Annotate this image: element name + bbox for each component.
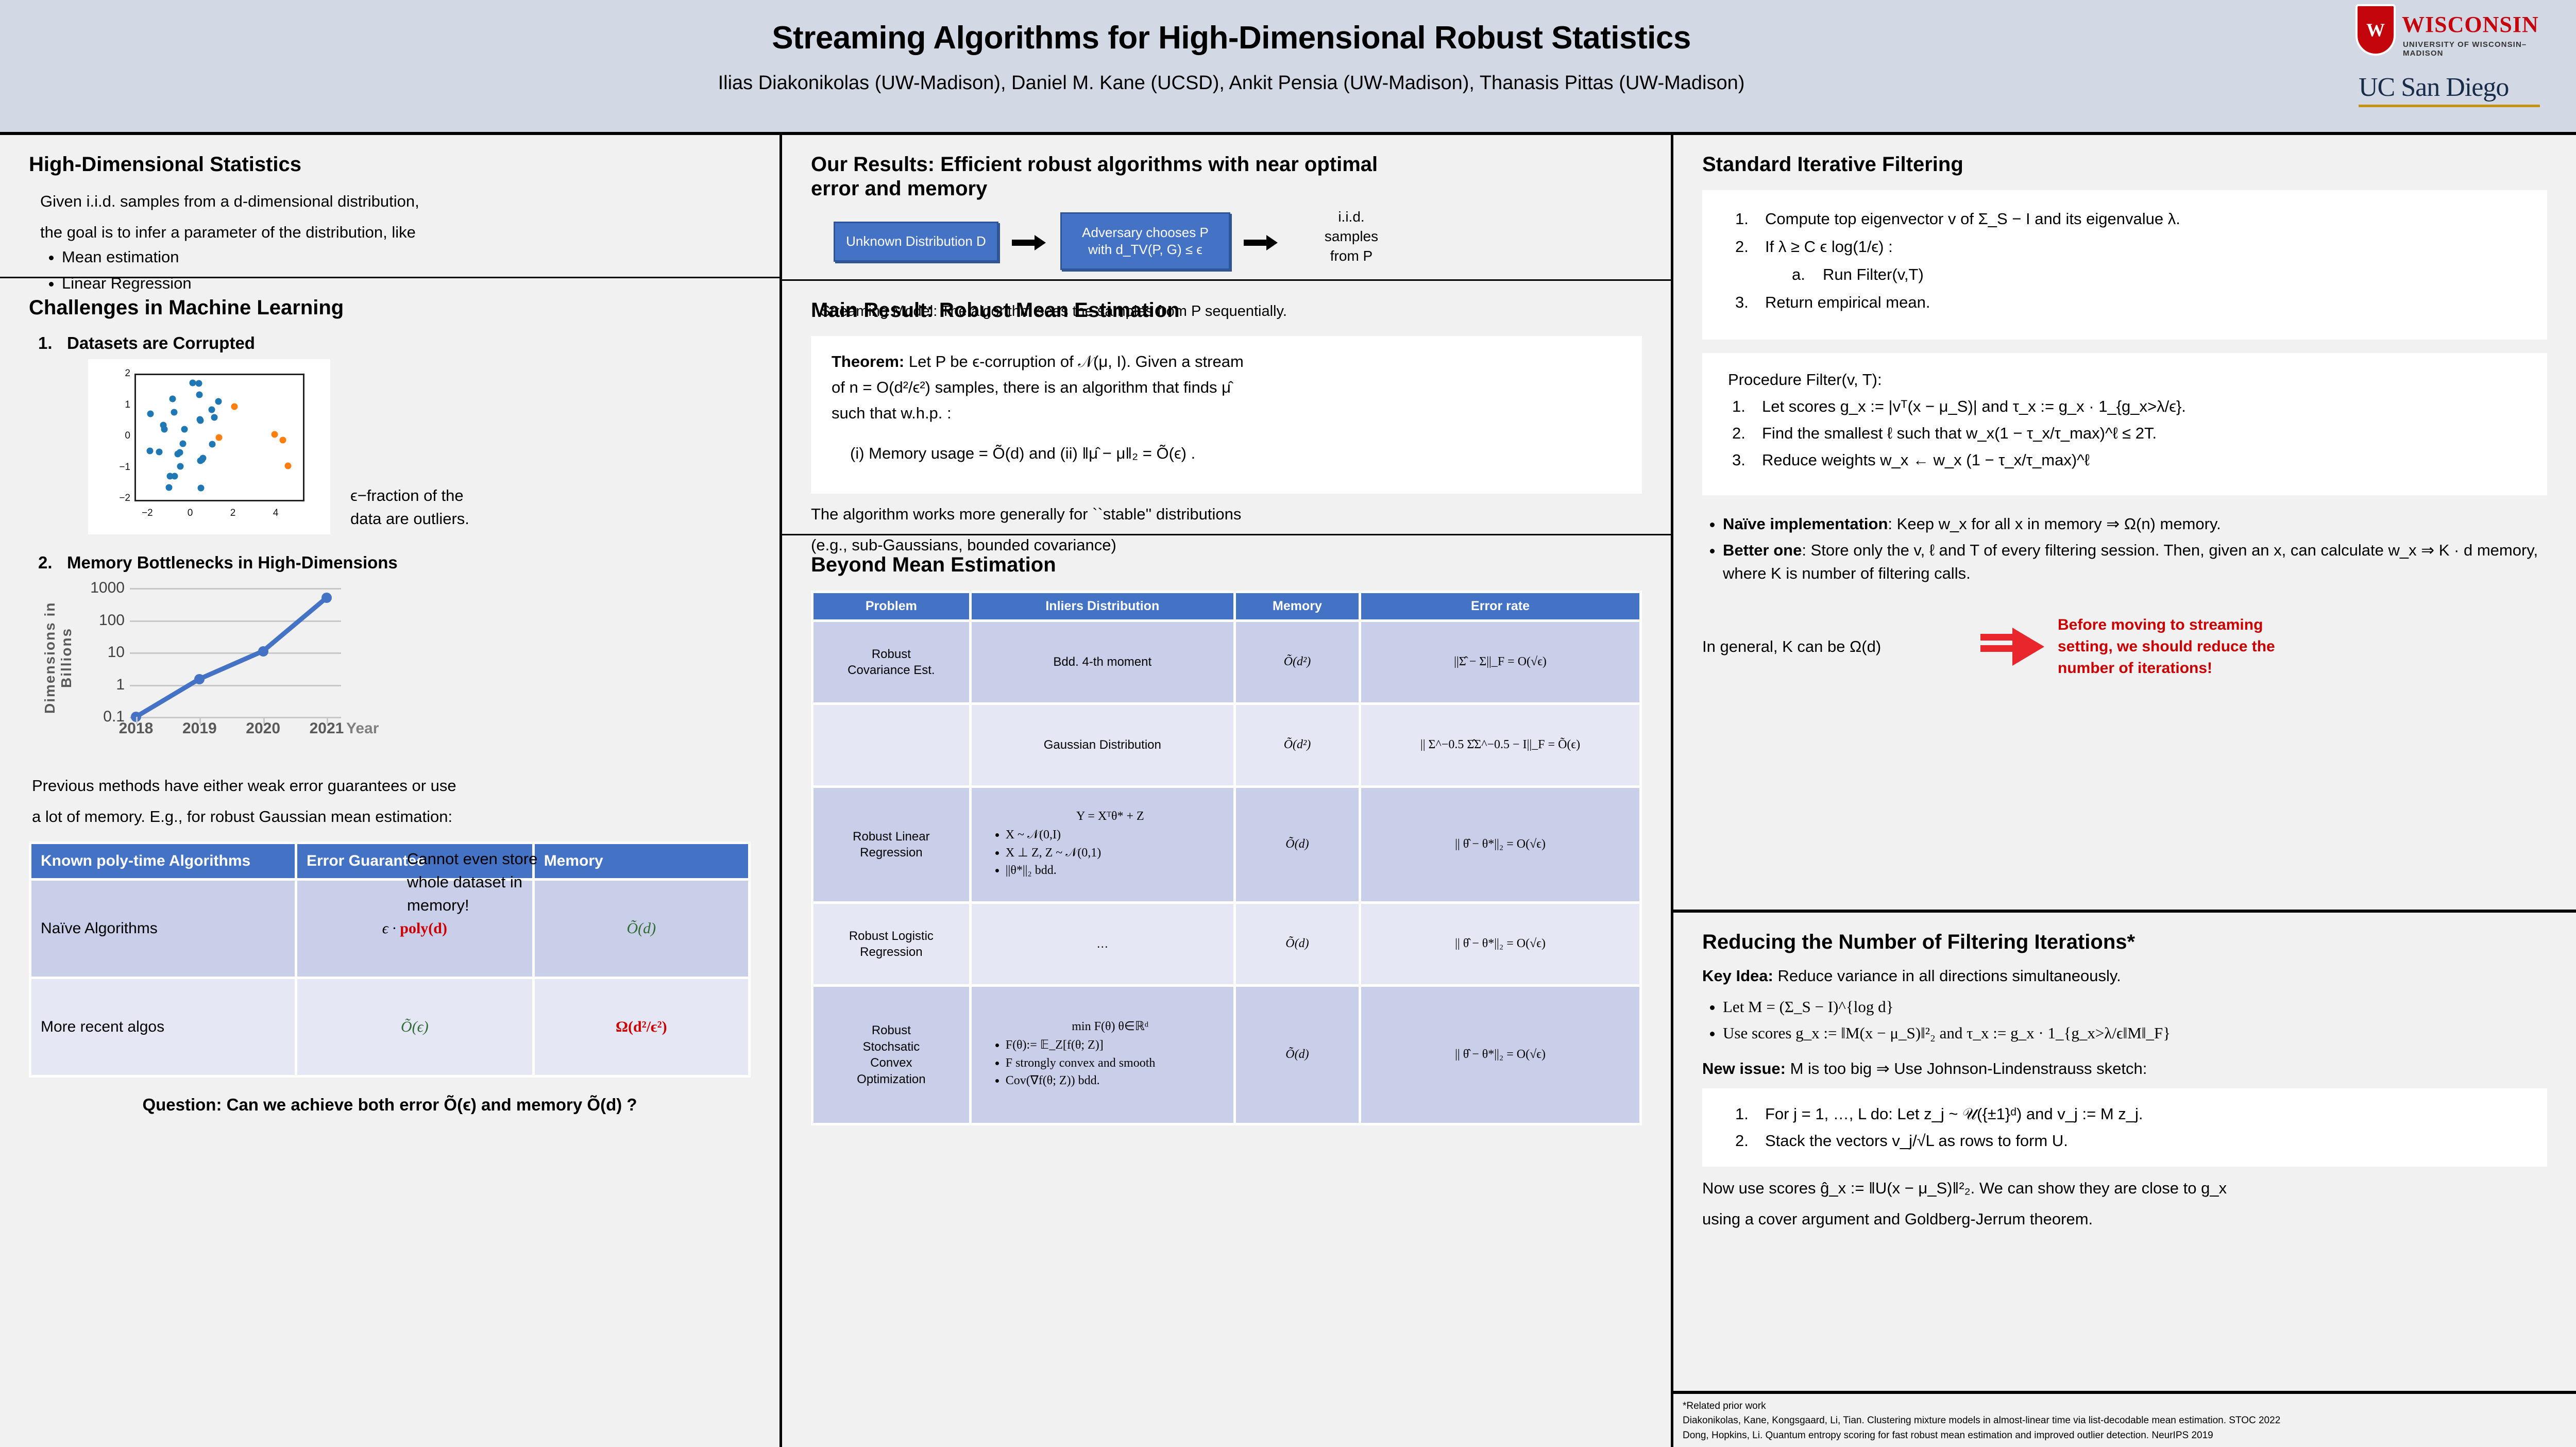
procedure-step-1-text: Let scores g_x := |vᵀ(x − μ_S)| and τ_x … [1762,397,2186,415]
scatter-point [197,417,204,424]
procedure-step-3-number: 3. [1732,449,1745,472]
beyond-table-wrap: Problem Inliers Distribution Memory Erro… [811,591,1642,1125]
filtering-step-3-text: Return empirical mean. [1765,293,1930,311]
list-item: Use scores g_x := ‖M(x − μ_S)‖²₂ and τ_x… [1723,1022,2547,1045]
list-item: ||θ*||₂ bdd. [1006,863,1228,879]
streaming-model-diagram: Unknown Distribution D Adversary chooses… [834,210,1642,288]
chart-x-tick: 2020 [246,720,280,737]
footnote-reference-1: Diakonikolas, Kane, Kongsgaard, Li, Tian… [1683,1414,2567,1428]
diagram-samples-line-3: from P [1292,246,1411,266]
scatter-note-line-2: data are outliers. [350,508,567,531]
diagram-samples-text: i.i.d. samples from P [1292,207,1411,265]
panel-challenges: Challenges in Machine Learning 1.Dataset… [0,278,779,1444]
cell-inliers-logreg: … [972,904,1233,984]
section-heading-reducing: Reducing the Number of Filtering Iterati… [1702,930,2547,954]
cell-error-covariance: ||Σ̂ − Σ||_F = O(√ϵ) [1361,622,1639,702]
ucsd-wordmark: UC San Diego [2359,72,2554,103]
chart-data-point [321,593,332,603]
cell-algo-recent: More recent algos [31,979,295,1075]
scatter-point [147,447,154,454]
list-item: X ⊥ Z, Z ~ 𝒩(0,1) [1006,845,1228,862]
scatter-point [171,409,177,415]
scatter-point [284,462,291,469]
linreg-assumptions: X ~ 𝒩(0,I) X ⊥ Z, Z ~ 𝒩(0,1) ||θ*||₂ bdd… [992,827,1228,879]
jl-step-2-number: 2. [1735,1130,1749,1152]
challenges-item-2-label: Memory Bottlenecks in High-Dimensions [67,553,398,572]
cell-inliers-covariance: Bdd. 4-th moment [972,622,1233,702]
diagram-box-adversary-line-1: Adversary chooses P [1082,224,1209,242]
scatter-point [272,431,278,438]
cell-error-naive-prefix: ϵ · [382,920,400,937]
cell-error-logreg: || θ̂ − θ*||₂ = O(√ϵ) [1361,904,1639,984]
procedure-filter-title: Procedure Filter(v, T): [1728,368,2521,391]
theorem-line-2: of n = O(d²/ϵ²) samples, there is an alg… [832,376,1621,399]
filtering-algorithm-box: 1.Compute top eigenvector v of Σ_S − I a… [1702,190,2547,340]
arrow-right-icon [1012,235,1046,250]
scatter-point [170,395,176,402]
chart-y-tick: 1 [73,676,125,694]
panel-high-dimensional-statistics: High-Dimensional Statistics Given i.i.d.… [0,135,779,278]
new-issue-label: New issue: [1702,1059,1786,1078]
main-result-note-line-1: The algorithm works more generally for `… [811,503,1642,526]
challenges-item-1-number: 1. [38,333,53,353]
bullet-better-label: Better one [1723,541,1802,559]
scatter-point [166,484,173,491]
key-idea-line: Key Idea: Reduce variance in all directi… [1702,965,2547,987]
hd-stats-intro-line-2: the goal is to infer a parameter of the … [40,221,751,244]
cell-memory-covariance: Õ(d²) [1236,622,1359,702]
list-item: Naïve implementation: Keep w_x for all x… [1723,513,2547,536]
procedure-step-2-text: Find the smallest ℓ such that w_x(1 − τ_… [1762,424,2157,442]
footnote-reference-2: Dong, Hopkins, Li. Quantum entropy scori… [1683,1428,2567,1443]
filtering-step-1-text: Compute top eigenvector v of Σ_S − I and… [1765,210,2180,228]
key-idea-text: Reduce variance in all directions simult… [1773,967,2121,985]
scatter-point [196,392,203,398]
section-heading-hd-stats: High-Dimensional Statistics [29,153,751,177]
list-item: Better one: Store only the v, ℓ and T of… [1723,539,2547,585]
scatter-point [181,426,188,432]
scatter-point [215,434,222,441]
chart-data-point [258,646,268,657]
scatter-y-tick: −2 [108,493,130,504]
memory-note-line-2: whole dataset in [407,871,613,894]
col-header-inliers: Inliers Distribution [972,593,1233,619]
closing-line-2: using a cover argument and Goldberg-Jerr… [1702,1208,2547,1231]
list-item: Mean estimation [62,246,751,269]
chart-y-tick: 0.1 [73,708,125,726]
author-list: Ilias Diakonikolas (UW-Madison), Daniel … [155,72,2308,94]
diagram-box-unknown-distribution: Unknown Distribution D [834,222,998,262]
table-row: Robust Logistic Regression … Õ(d) || θ̂ … [814,904,1639,984]
cell-error-gaussian: || Σ^−0.5 Σ̂Σ^−0.5 − I||_F = Õ(ϵ) [1361,705,1639,785]
table-row: Robust Linear Regression Y = Xᵀθ* + Z X … [814,788,1639,901]
scatter-point [198,485,205,492]
col-header-problem: Problem [814,593,969,619]
scatter-point [189,380,196,386]
procedure-step-3-text: Reduce weights w_x ← w_x (1 − τ_x/τ_max)… [1762,451,2090,469]
panel-standard-iterative-filtering: Standard Iterative Filtering 1.Compute t… [1673,135,2576,913]
panel-reducing-iterations: Reducing the Number of Filtering Iterati… [1673,913,2576,1387]
scatter-x-tick: 0 [179,508,201,519]
callout-line-2: setting, we should reduce the [2058,636,2275,658]
previous-methods-line-2: a lot of memory. E.g., for robust Gaussi… [32,805,751,828]
table-row: Robust Stochsatic Convex Optimization mi… [814,987,1639,1123]
diagram-samples-line-2: samples [1292,227,1411,246]
cell-problem-covariance: Robust Covariance Est. [814,622,969,702]
scatter-point [211,414,217,421]
chart-gridline [130,717,341,718]
cell-memory-linreg: Õ(d) [1236,788,1359,901]
diagram-samples-line-1: i.i.d. [1292,207,1411,227]
procedure-step-2-number: 2. [1732,422,1745,445]
challenges-item-1: 1.Datasets are Corrupted [29,333,751,353]
uw-madison-logo: W WISCONSIN UNIVERSITY OF WISCONSIN–MADI… [2355,3,2556,65]
table-row: Gaussian Distribution Õ(d²) || Σ^−0.5 Σ̂… [814,705,1639,785]
filtering-step-2: 2.If λ ≥ C ϵ log(1/ϵ) : [1731,235,2518,258]
footnotes-block: *Related prior work Diakonikolas, Kane, … [1673,1391,2576,1447]
procedure-step-2: 2.Find the smallest ℓ such that w_x(1 − … [1728,422,2521,445]
chart-x-tick: 2018 [119,720,154,737]
bullet-naive-text: : Keep w_x for all x in memory ⇒ Ω(n) me… [1888,515,2221,533]
scatter-x-tick: −2 [136,508,159,519]
list-item: Cov(∇f(θ; Z)) bdd. [1006,1073,1228,1089]
previous-methods-table: Known poly-time Algorithms Error Guarant… [29,842,751,1078]
diagram-box-adversary: Adversary chooses P with d_TV(P, G) ≤ ϵ [1060,212,1230,270]
bullet-naive-label: Naïve implementation [1723,515,1888,533]
poster-header: Streaming Algorithms for High-Dimensiona… [0,0,2576,135]
cell-memory-gaussian: Õ(d²) [1236,705,1359,785]
cell-problem-blank [814,705,969,785]
cell-error-sco: || θ̂ − θ*||₂ = O(√ϵ) [1361,987,1639,1123]
closing-question: Question: Can we achieve both error Õ(ϵ)… [29,1093,751,1117]
double-arrow-right-icon [1980,630,2058,664]
scatter-point [279,437,286,444]
jl-step-2-text: Stack the vectors v_j/√L as rows to form… [1765,1132,2068,1150]
callout-line-1: Before moving to streaming [2058,614,2275,636]
scatter-point [215,398,222,405]
col-header-memory: Memory [1236,593,1359,619]
chart-y-axis-label: Dimensions in Billions [47,593,69,722]
cell-error-naive-poly: poly(d) [400,920,447,937]
theorem-box: Theorem: Let P be ϵ-corruption of 𝒩(μ, I… [811,336,1642,494]
col-header-error-rate: Error rate [1361,593,1639,619]
cell-error-linreg: || θ̂ − θ*||₂ = O(√ϵ) [1361,788,1639,901]
scatter-point [180,441,187,447]
hd-stats-intro-line-1: Given i.i.d. samples from a d-dimensiona… [40,190,751,213]
memory-note-line-3: memory! [407,894,613,917]
memory-note-line-1: Cannot even store [407,848,613,871]
cell-inliers-sco: min F(θ) θ∈ℝᵈ F(θ):= 𝔼_Z[f(θ; Z)] F stro… [972,987,1233,1123]
outliers-scatter-chart: −2−1012−2024 [88,359,330,534]
table-header-row: Known poly-time Algorithms Error Guarant… [31,844,748,878]
list-item: Let M = (Σ_S − I)^{log d} [1723,996,2547,1019]
new-issue-line: New issue: M is too big ⇒ Use Johnson-Li… [1702,1057,2547,1080]
jl-step-2: 2.Stack the vectors v_j/√L as rows to fo… [1731,1130,2518,1152]
section-heading-challenges: Challenges in Machine Learning [29,296,751,320]
dimensions-growth-line-chart: Dimensions in Billions 0.111010010002018… [47,579,408,738]
section-heading-our-results: Our Results: Efficient robust algorithms… [811,153,1642,201]
scatter-y-tick: 1 [108,399,130,411]
reducing-bullets: Let M = (Σ_S − I)^{log d} Use scores g_x… [1702,996,2547,1045]
procedure-step-1: 1.Let scores g_x := |vᵀ(x − μ_S)| and τ_… [1728,395,2521,418]
procedure-step-1-number: 1. [1732,395,1745,418]
scatter-point [156,449,162,456]
previous-methods-table-wrap: Known poly-time Algorithms Error Guarant… [29,842,751,1078]
challenges-item-2: 2.Memory Bottlenecks in High-Dimensions [29,553,751,573]
panel-beyond-mean-estimation: Beyond Mean Estimation Problem Inliers D… [782,535,1671,1447]
column-right: Standard Iterative Filtering 1.Compute t… [1671,135,2576,1447]
line-plot-area: 0.111010010002018201920202021Year [130,588,341,717]
cell-memory-sco: Õ(d) [1236,987,1359,1123]
linreg-model-eq: Y = Xᵀθ* + Z [992,809,1228,825]
in-general-text: In general, K can be Ω(d) [1702,635,1980,658]
scatter-point [208,406,215,413]
cell-inliers-gaussian: Gaussian Distribution [972,705,1233,785]
chart-y-tick: 100 [73,612,125,629]
theorem-line-3: such that w.h.p. : [832,402,1621,425]
chart-y-tick: 10 [73,644,125,661]
section-heading-main-result: Main Result: Robust Mean Estimation [811,298,1642,323]
ucsd-logo: UC San Diego [2359,72,2554,119]
theorem-guarantees: (i) Memory usage = Õ(d) and (ii) ‖μ̂ − μ… [850,442,1621,465]
cell-problem-sco: Robust Stochsatic Convex Optimization [814,987,969,1123]
cell-inliers-linreg: Y = Xᵀθ* + Z X ~ 𝒩(0,I) X ⊥ Z, Z ~ 𝒩(0,1… [972,788,1233,901]
theorem-text-1: Let P be ϵ-corruption of 𝒩(μ, I). Given … [904,352,1244,371]
previous-methods-line-1: Previous methods have either weak error … [32,775,751,797]
beyond-results-table: Problem Inliers Distribution Memory Erro… [811,591,1642,1125]
cell-memory-logreg: Õ(d) [1236,904,1359,984]
scatter-point [161,426,167,432]
streaming-callout: Before moving to streaming setting, we s… [2058,614,2275,679]
key-idea-label: Key Idea: [1702,967,1773,985]
scatter-y-tick: 0 [108,430,130,442]
theorem-line-1: Theorem: Let P be ϵ-corruption of 𝒩(μ, I… [832,350,1621,373]
scatter-side-note: ϵ−fraction of the data are outliers. [350,484,567,531]
uw-crest-icon: W [2355,4,2396,56]
col-header-algorithms: Known poly-time Algorithms [31,844,295,878]
diagram-box-adversary-line-2: with d_TV(P, G) ≤ ϵ [1088,241,1202,259]
memory-side-note: Cannot even store whole dataset in memor… [407,848,613,917]
table-row: Robust Covariance Est. Bdd. 4-th moment … [814,622,1639,702]
table-header-row: Problem Inliers Distribution Memory Erro… [814,593,1639,619]
filtering-step-2a: a.Run Filter(v,T) [1731,263,2518,286]
scatter-note-line-1: ϵ−fraction of the [350,484,567,508]
column-left: High-Dimensional Statistics Given i.i.d.… [0,135,779,1447]
general-k-row: In general, K can be Ω(d) Before moving … [1702,614,2547,679]
scatter-point [147,411,154,417]
chart-y-tick: 1000 [73,579,125,597]
section-heading-filtering: Standard Iterative Filtering [1702,153,2547,177]
filtering-step-2a-number: a. [1792,263,1805,286]
jl-step-1: 1.For j = 1, …, L do: Let z_j ~ 𝒰({±1}ᵈ)… [1731,1103,2518,1125]
list-item: X ~ 𝒩(0,I) [1006,827,1228,844]
scatter-x-tick: 4 [264,508,287,519]
sco-assumptions: F(θ):= 𝔼_Z[f(θ; Z)] F strongly convex an… [992,1037,1228,1089]
scatter-y-tick: 2 [108,368,130,379]
cell-error-recent: Õ(ϵ) [297,979,532,1075]
theorem-label: Theorem: [832,352,904,371]
challenges-item-2-number: 2. [38,553,53,573]
table-row: More recent algos Õ(ϵ) Ω(d²/ϵ²) [31,979,748,1075]
panel-our-results: Our Results: Efficient robust algorithms… [782,135,1671,281]
filtering-step-3: 3.Return empirical mean. [1731,291,2518,314]
cell-problem-linreg: Robust Linear Regression [814,788,969,901]
scatter-x-tick: 2 [222,508,244,519]
chart-series-line [130,588,341,717]
list-item: F strongly convex and smooth [1006,1055,1228,1072]
column-middle: Our Results: Efficient robust algorithms… [779,135,1671,1447]
uw-wordmark: WISCONSIN [2402,11,2539,38]
uw-subline: UNIVERSITY OF WISCONSIN–MADISON [2403,40,2556,58]
filtering-step-3-number: 3. [1735,291,1749,314]
bullet-better-text: : Store only the v, ℓ and T of every fil… [1723,541,2538,582]
list-item: F(θ):= 𝔼_Z[f(θ; Z)] [1006,1037,1228,1054]
challenges-item-1-label: Datasets are Corrupted [67,333,255,352]
page-title: Streaming Algorithms for High-Dimensiona… [155,20,2308,56]
scatter-point [195,380,202,386]
chart-x-tick: 2019 [182,720,217,737]
filtering-step-1-number: 1. [1735,208,1749,230]
ucsd-rule [2359,105,2540,107]
footnote-title: *Related prior work [1683,1399,2567,1414]
panel-main-result: Main Result: Robust Mean Estimation Theo… [782,281,1671,535]
sco-objective: min F(θ) θ∈ℝᵈ [992,1019,1228,1035]
scatter-point [172,473,178,479]
our-results-heading-line-2: error and memory [811,177,987,200]
procedure-step-3: 3.Reduce weights w_x ← w_x (1 − τ_x/τ_ma… [1728,449,2521,472]
scatter-point [176,449,183,456]
cell-problem-logreg: Robust Logistic Regression [814,904,969,984]
memory-discussion-bullets: Naïve implementation: Keep w_x for all x… [1702,513,2547,585]
filtering-step-1: 1.Compute top eigenvector v of Σ_S − I a… [1731,208,2518,230]
our-results-heading-line-1: Our Results: Efficient robust algorithms… [811,153,1378,176]
arrow-right-icon-2 [1244,235,1278,250]
section-heading-beyond: Beyond Mean Estimation [811,553,1642,577]
poster-root: Streaming Algorithms for High-Dimensiona… [0,0,2576,1447]
scatter-point [200,455,207,462]
filtering-step-2-number: 2. [1735,235,1749,258]
cell-memory-recent: Ω(d²/ϵ²) [535,979,748,1075]
callout-line-3: number of iterations! [2058,658,2275,679]
jl-sketch-box: 1.For j = 1, …, L do: Let z_j ~ 𝒰({±1}ᵈ)… [1702,1088,2547,1167]
new-issue-text: M is too big ⇒ Use Johnson-Lindenstrauss… [1786,1059,2147,1078]
scatter-point [231,403,238,410]
table-row: Naïve Algorithms ϵ · poly(d) Õ(d) [31,881,748,977]
filtering-step-2a-text: Run Filter(v,T) [1823,265,1924,283]
scatter-plot-area [134,374,304,501]
procedure-filter-box: Procedure Filter(v, T): 1.Let scores g_x… [1702,353,2547,495]
scatter-y-tick: −1 [108,462,130,473]
chart-data-point [194,674,205,684]
cell-algo-naive: Naïve Algorithms [31,881,295,977]
scatter-point [209,441,215,448]
diagram-box-unknown-distribution-label: Unknown Distribution D [846,233,986,250]
jl-step-1-number: 1. [1735,1103,1749,1125]
chart-x-axis-label: Year [346,720,379,737]
chart-x-tick: 2021 [310,720,344,737]
scatter-point [177,463,184,469]
closing-line-1: Now use scores ĝ_x := ‖U(x − μ_S)‖²₂. W… [1702,1177,2547,1200]
jl-step-1-text: For j = 1, …, L do: Let z_j ~ 𝒰({±1}ᵈ) a… [1765,1105,2143,1123]
filtering-step-2-text: If λ ≥ C ϵ log(1/ϵ) : [1765,238,1893,256]
